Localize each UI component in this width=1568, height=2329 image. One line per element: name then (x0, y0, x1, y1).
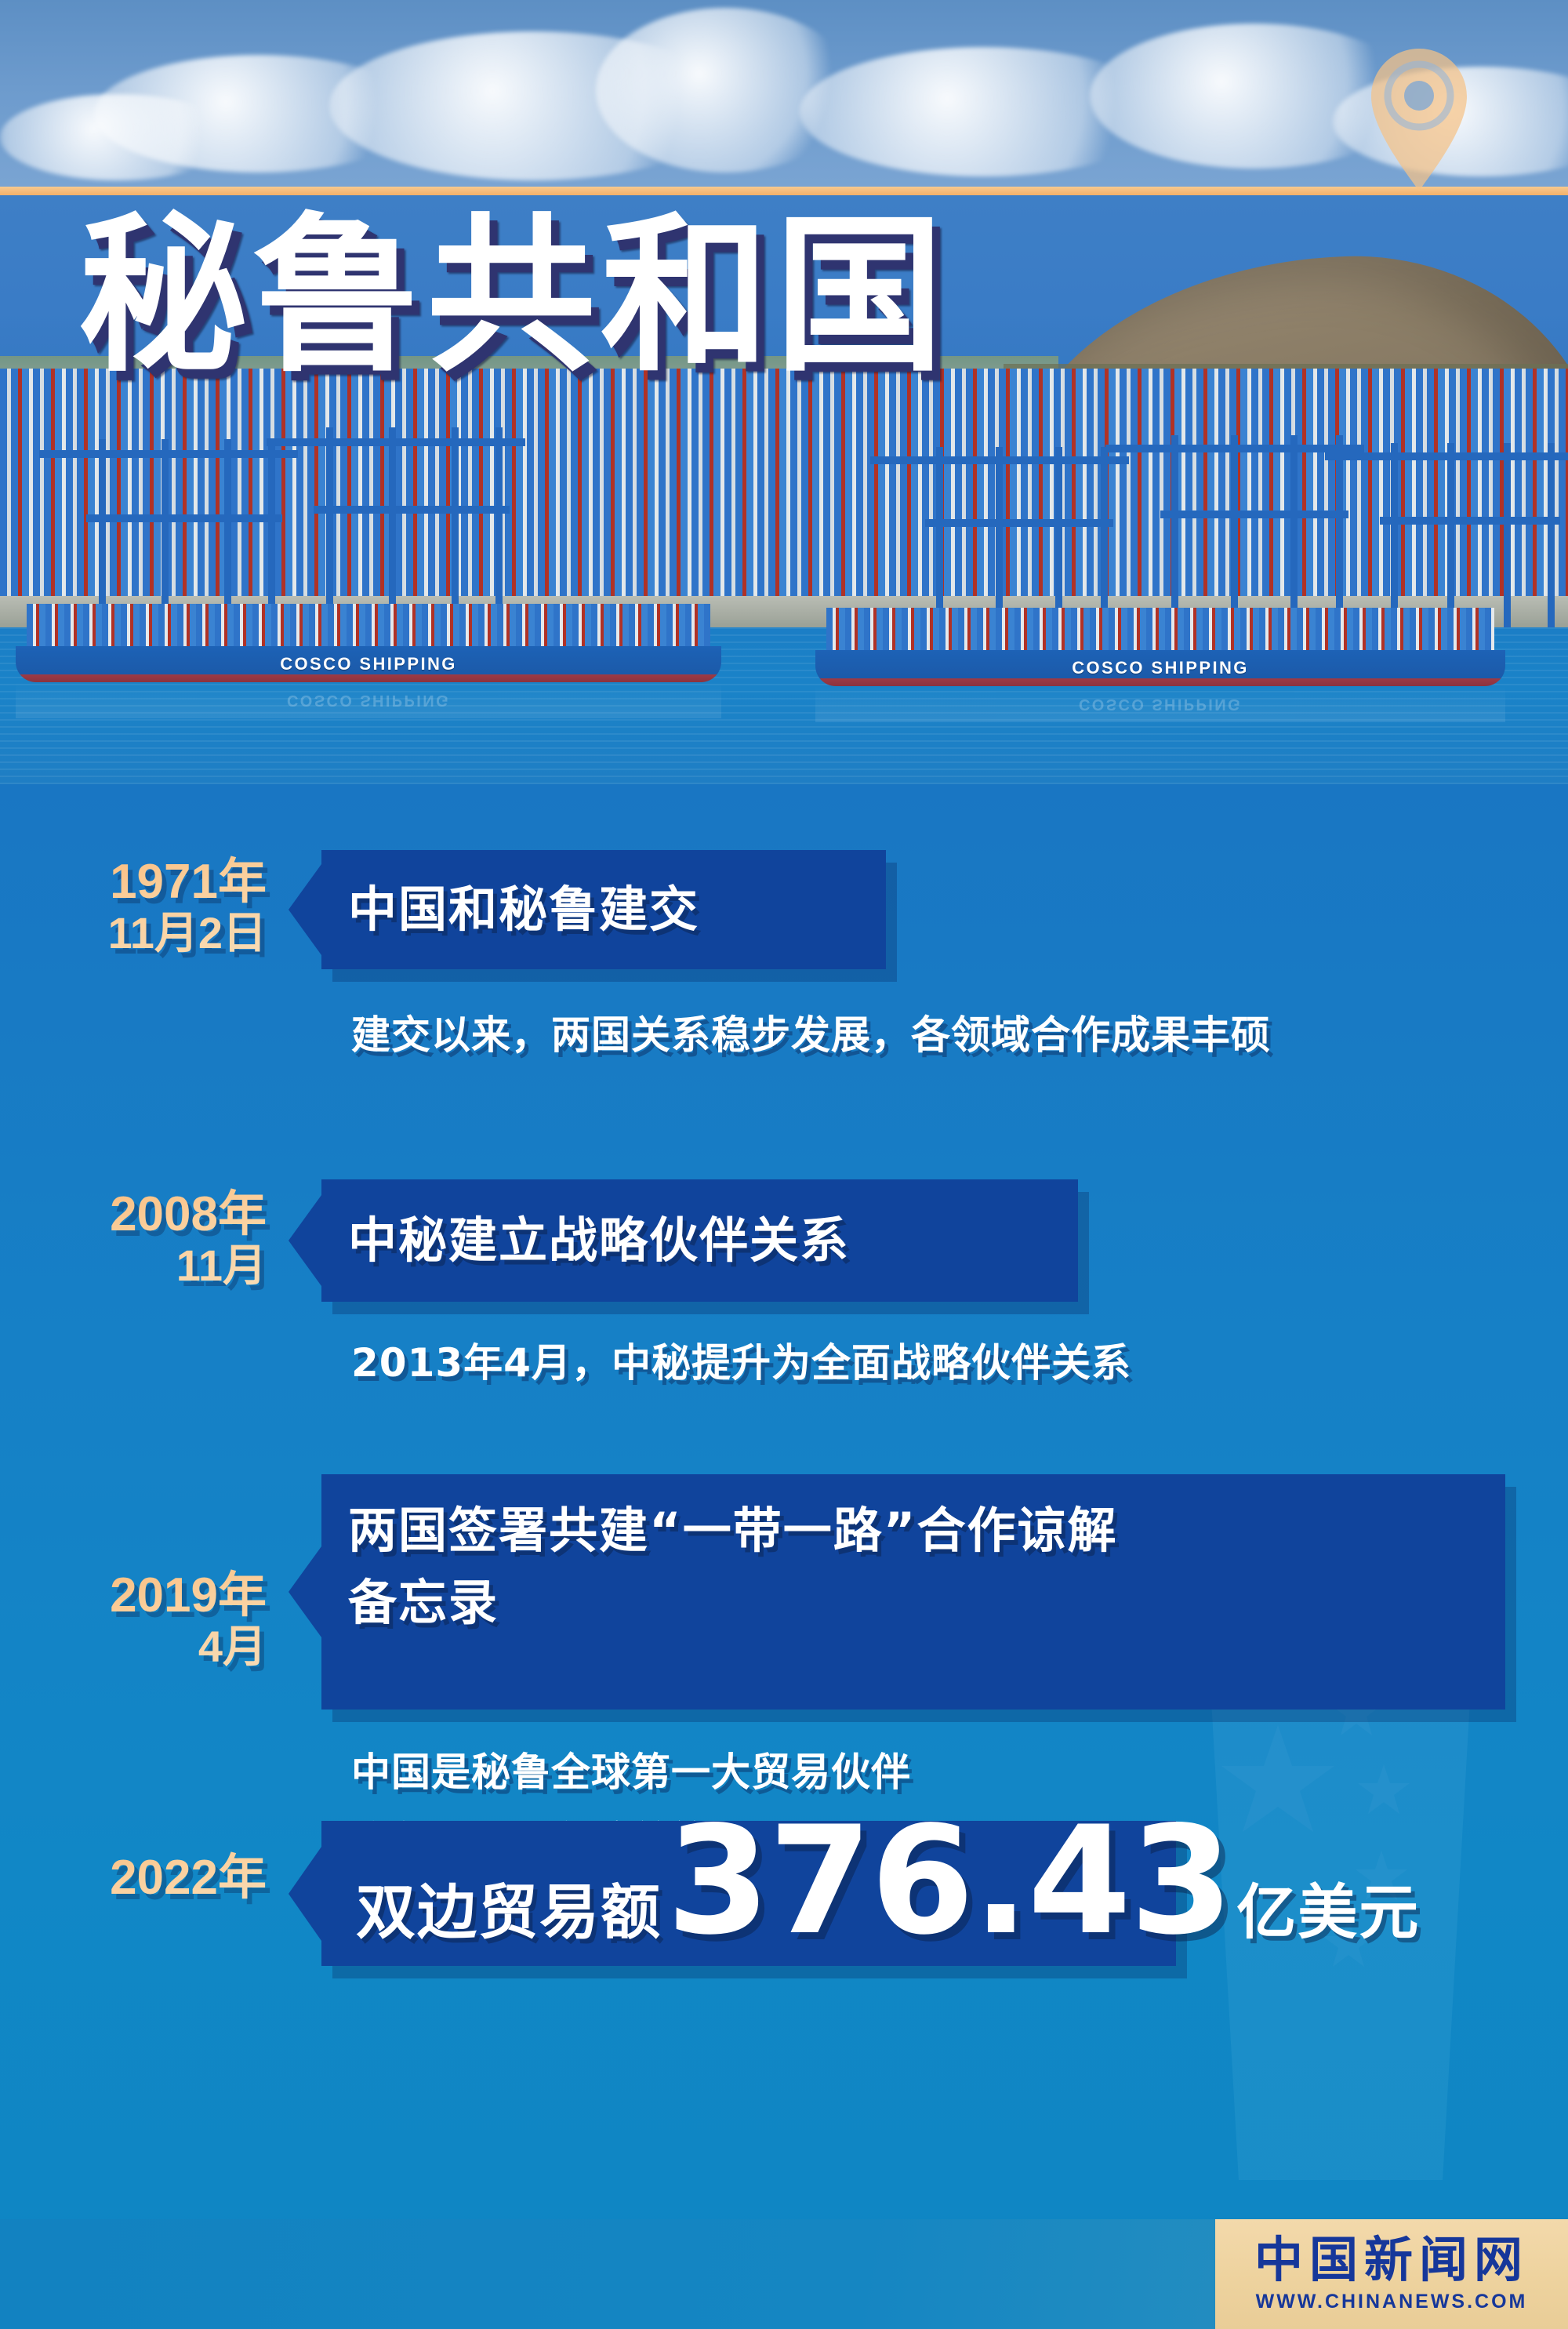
page-title-text: 秘鲁共和国 (78, 212, 949, 381)
timeline-year: 2019年 (31, 1568, 267, 1622)
ship-reflection: COSCO SHIPPING (16, 682, 721, 718)
ship-brand-text: COSCO SHIPPING (280, 654, 457, 674)
site-logo-text: 中国新闻网 (1254, 2236, 1529, 2284)
cloud-shape (0, 94, 235, 180)
timeline-date-2008: 2008年 11月 (31, 1187, 267, 1291)
ship-deck-containers (826, 608, 1494, 650)
timeline-date-2022: 2022年 (31, 1851, 267, 1905)
timeline-callout-2008: 中秘建立战略伙伴关系 (321, 1179, 1078, 1302)
sky-background (0, 0, 1568, 196)
infographic-poster: COSCO SHIPPING COSCO SHIPPING COSCO SHIP… (0, 0, 1568, 2329)
ship-hull: COSCO SHIPPING (16, 646, 721, 682)
timeline-year: 1971年 (31, 855, 267, 909)
timeline-date-2019: 2019年 4月 (31, 1568, 267, 1672)
timeline-desc-2008: 2013年4月，中秘提升为全面战略伙伴关系 (351, 1333, 1131, 1394)
timeline-date-1971: 1971年 11月2日 (31, 855, 267, 958)
timeline-year: 2008年 (31, 1187, 267, 1241)
location-pin-icon (1364, 45, 1474, 194)
timeline-year: 2022年 (31, 1851, 267, 1905)
timeline-month: 11月 (31, 1241, 267, 1291)
stat-value: 376.43 (666, 1820, 1232, 1942)
timeline-callout-1971: 中国和秘鲁建交 (321, 850, 886, 969)
timeline-headline: 中秘建立战略伙伴关系 (348, 1204, 850, 1277)
hero-image: COSCO SHIPPING COSCO SHIPPING COSCO SHIP… (0, 0, 1568, 784)
timeline-headline-line1: 两国签署共建“一带一路”合作谅解 (348, 1495, 1118, 1567)
orange-divider-rule (0, 187, 1568, 195)
timeline-headline-line2: 备忘录 (348, 1567, 1118, 1639)
timeline-headline: 中国和秘鲁建交 (348, 874, 699, 946)
stat-line: 双边贸易额 376.43 亿美元 (356, 1820, 1420, 1942)
timeline-desc-1971: 建交以来，两国关系稳步发展，各领域合作成果丰硕 (351, 1005, 1271, 1066)
container-ship: COSCO SHIPPING COSCO SHIPPING (815, 604, 1505, 686)
timeline-month: 11月2日 (31, 909, 267, 958)
timeline-month: 4月 (31, 1622, 267, 1672)
page-title: 秘鲁共和国 (78, 212, 949, 381)
stat-label: 双边贸易额 (356, 1883, 662, 1942)
container-ship: COSCO SHIPPING COSCO SHIPPING (16, 596, 721, 682)
site-logo: 中国新闻网 WWW.CHINANEWS.COM (1215, 2219, 1568, 2329)
stat-unit: 亿美元 (1236, 1883, 1420, 1942)
ship-reflection: COSCO SHIPPING (815, 686, 1505, 722)
timeline-callout-2019: 两国签署共建“一带一路”合作谅解 备忘录 (321, 1474, 1505, 1710)
ship-brand-text: COSCO SHIPPING (1072, 658, 1249, 678)
ship-deck-containers (27, 604, 710, 646)
ship-hull: COSCO SHIPPING (815, 650, 1505, 686)
stat-callout-2022: 双边贸易额 376.43 亿美元 (321, 1821, 1176, 1966)
site-logo-url: WWW.CHINANEWS.COM (1256, 2291, 1528, 2313)
